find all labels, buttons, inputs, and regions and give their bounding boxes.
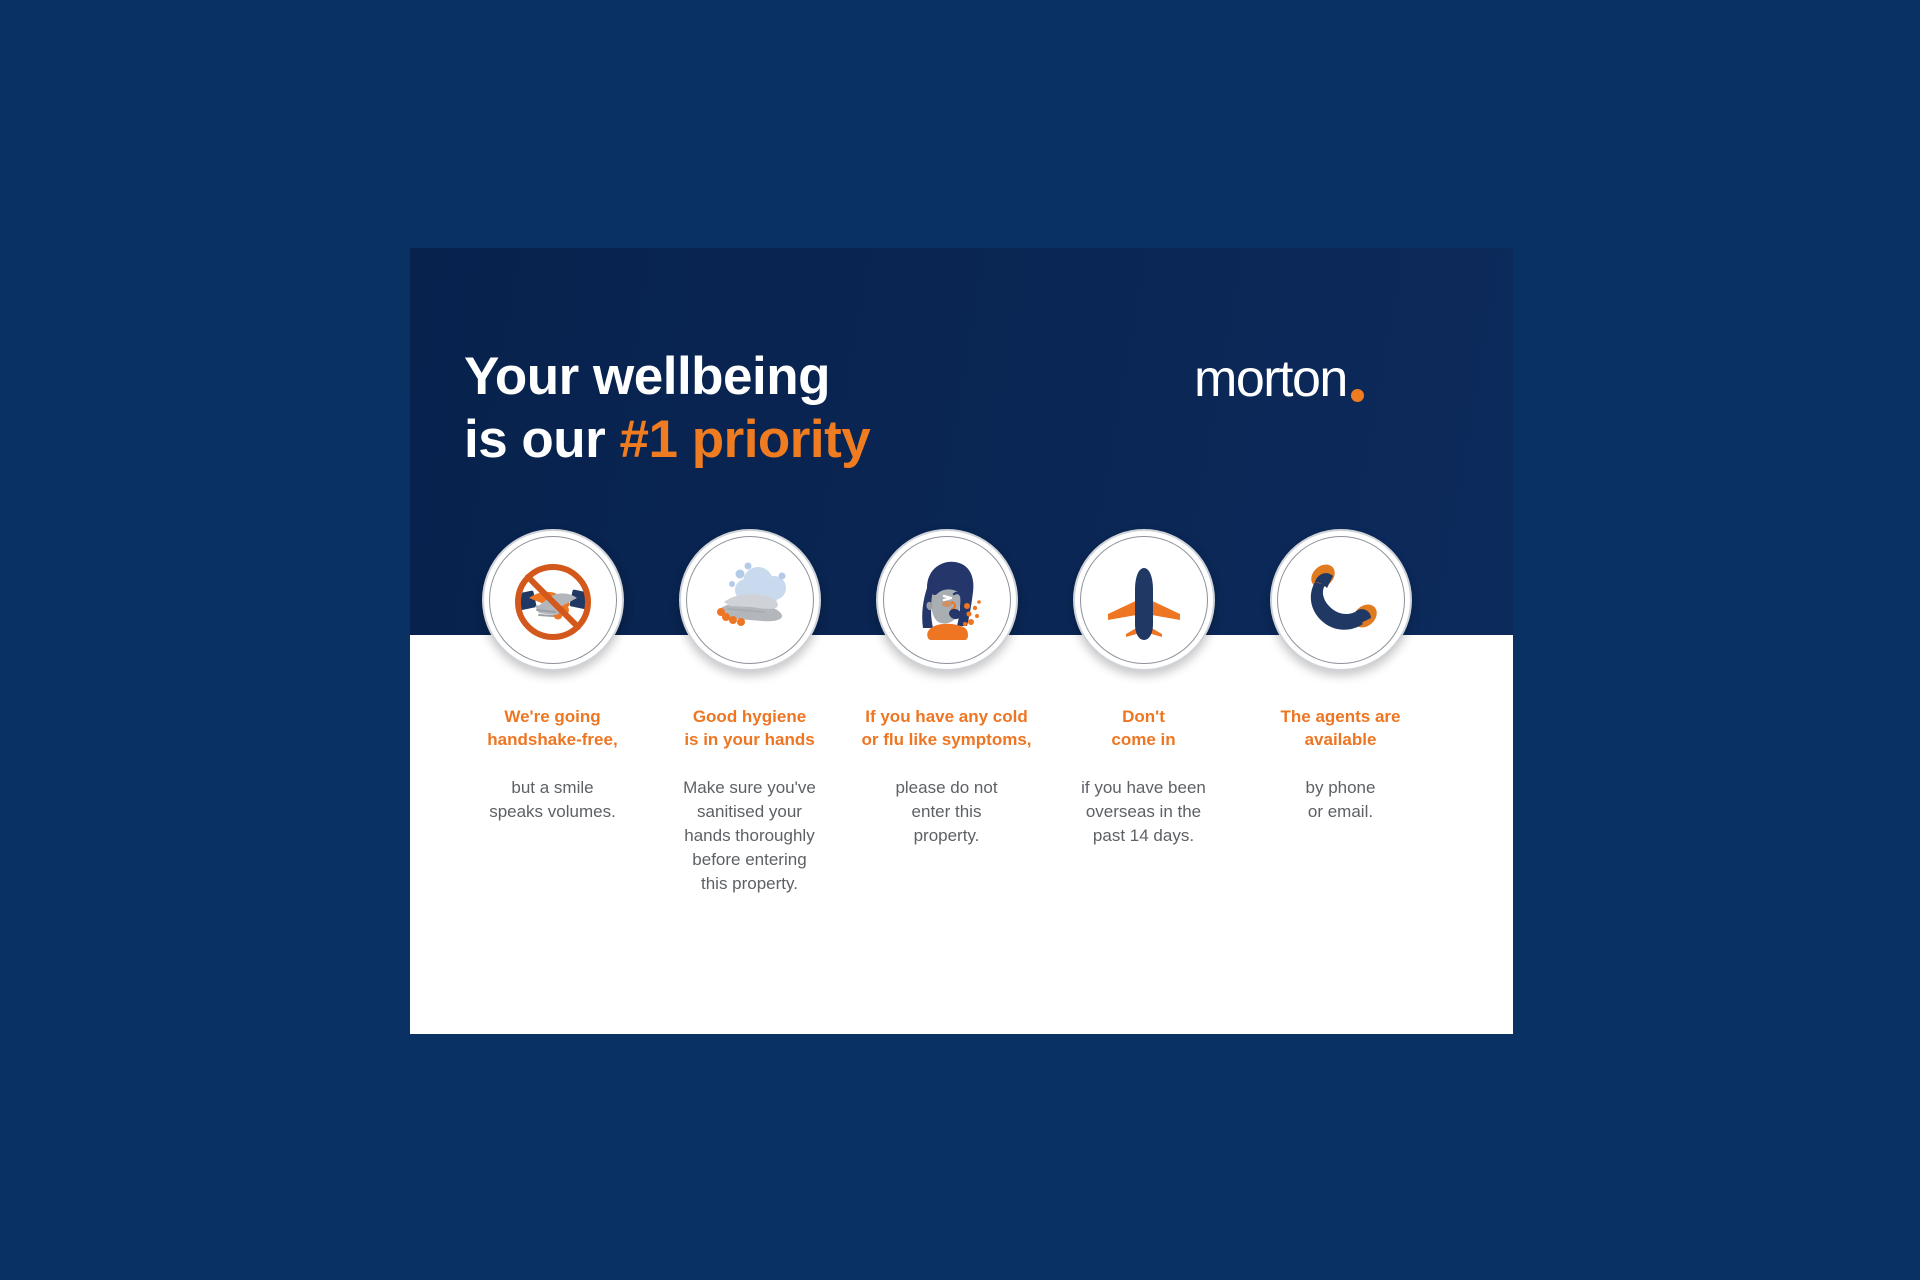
- card-title: If you have any cold or flu like symptom…: [839, 706, 1054, 752]
- airplane-icon: [1096, 552, 1192, 648]
- list-item: The agents are available by phone or ema…: [1242, 529, 1439, 896]
- headline-line-2-accent: #1 priority: [620, 410, 871, 469]
- person-sneezing-badge: [876, 529, 1018, 671]
- card-body: by phone or email.: [1306, 776, 1376, 824]
- no-handshake-icon: [505, 552, 601, 648]
- page-background: Your wellbeing is our #1 priority morton: [0, 0, 1920, 1280]
- morton-logo: morton: [1194, 353, 1364, 405]
- telephone-badge: [1270, 529, 1412, 671]
- airplane-badge: [1073, 529, 1215, 671]
- person-sneezing-icon: [899, 552, 995, 648]
- morton-logo-wordmark: morton: [1194, 353, 1347, 405]
- card-body: please do not enter this property.: [895, 776, 997, 848]
- headline-line-1: Your wellbeing: [464, 347, 830, 406]
- headline-line-2-plain: is our: [464, 410, 620, 469]
- list-item: We're going handshake-free, but a smile …: [454, 529, 651, 896]
- card-title: Don't come in: [1069, 706, 1219, 752]
- guidelines-list: We're going handshake-free, but a smile …: [410, 529, 1513, 896]
- page-title: Your wellbeing is our #1 priority: [464, 346, 870, 471]
- card-body: Make sure you've sanitised your hands th…: [683, 776, 816, 897]
- wellbeing-poster: Your wellbeing is our #1 priority morton: [410, 248, 1513, 1034]
- card-body: if you have been overseas in the past 14…: [1081, 776, 1206, 848]
- telephone-handset-icon: [1293, 552, 1389, 648]
- card-title: We're going handshake-free,: [458, 706, 648, 752]
- list-item: If you have any cold or flu like symptom…: [848, 529, 1045, 896]
- list-item: Good hygiene is in your hands Make sure …: [651, 529, 848, 896]
- card-body: but a smile speaks volumes.: [489, 776, 616, 824]
- washing-hands-icon: [702, 552, 798, 648]
- morton-logo-dot-icon: [1351, 389, 1364, 402]
- card-title: The agents are available: [1248, 706, 1433, 752]
- no-handshake-badge: [482, 529, 624, 671]
- washing-hands-badge: [679, 529, 821, 671]
- headline-line-2: is our #1 priority: [464, 409, 870, 472]
- card-title: Good hygiene is in your hands: [660, 706, 840, 752]
- list-item: Don't come in if you have been overseas …: [1045, 529, 1242, 896]
